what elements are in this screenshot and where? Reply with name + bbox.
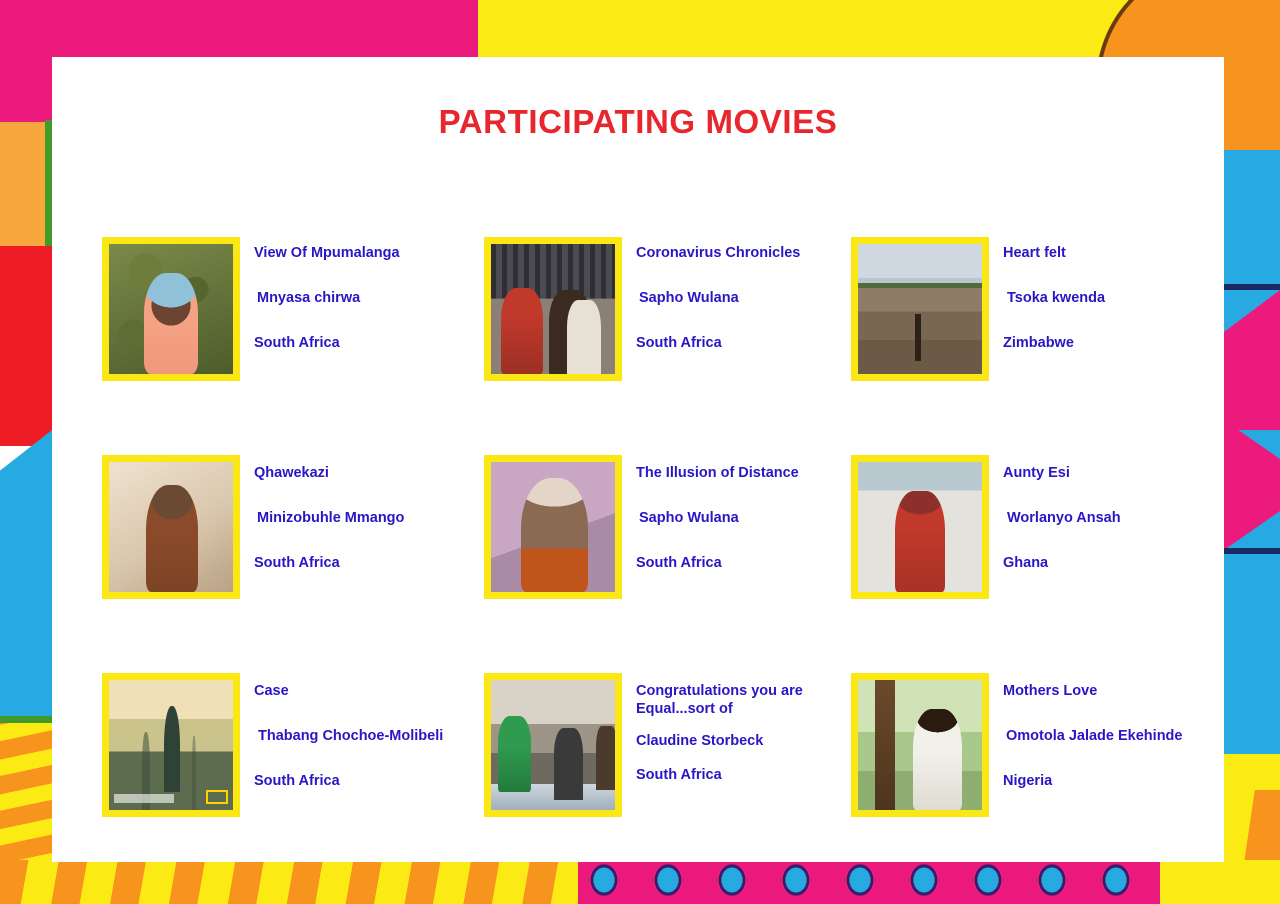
movie-info: Qhawekazi Minizobuhle Mmango South Afric… — [254, 455, 404, 572]
movie-thumbnail[interactable] — [851, 455, 989, 599]
movie-director: Sapho Wulana — [639, 509, 799, 527]
background-bottom-dot-pattern — [578, 860, 1224, 904]
movie-thumbnail[interactable] — [851, 673, 989, 817]
movie-info: Heart felt Tsoka kwenda Zimbabwe — [1003, 237, 1105, 352]
woman-headwrap-foliage-photo — [109, 244, 233, 374]
content-panel: PARTICIPATING MOVIES View Of Mpumalanga … — [52, 57, 1224, 862]
movie-director: Mnyasa chirwa — [257, 289, 400, 307]
desk-surface — [491, 784, 615, 810]
movie-director: Claudine Storbeck — [636, 732, 851, 750]
movie-info: Aunty Esi Worlanyo Ansah Ghana — [1003, 455, 1121, 572]
movie-card[interactable]: Coronavirus Chronicles Sapho Wulana Sout… — [484, 237, 851, 455]
poster-caption-strip — [114, 794, 174, 803]
movie-info: The Illusion of Distance Sapho Wulana So… — [636, 455, 799, 572]
movie-info: View Of Mpumalanga Mnyasa chirwa South A… — [254, 237, 400, 352]
movie-card[interactable]: Congratulations you are Equal...sort of … — [484, 673, 851, 848]
movie-card[interactable]: Heart felt Tsoka kwenda Zimbabwe — [851, 237, 1224, 455]
background-left-orange-block — [0, 122, 48, 246]
movie-director: Tsoka kwenda — [1007, 289, 1105, 307]
movie-info: Mothers Love Omotola Jalade Ekehinde Nig… — [1003, 673, 1182, 790]
background-top-pink-band — [0, 0, 478, 58]
movie-director: Omotola Jalade Ekehinde — [1006, 727, 1182, 745]
background-bottom-wave-pattern — [0, 860, 578, 904]
movie-thumbnail[interactable] — [102, 237, 240, 381]
movie-info: Congratulations you are Equal...sort of … — [636, 673, 851, 785]
movie-country: South Africa — [636, 766, 851, 784]
background-right-navy-line-bottom — [1224, 548, 1280, 554]
background-left-pink-block — [0, 0, 52, 122]
movie-director: Thabang Chochoe-Molibeli — [258, 727, 443, 745]
movie-country: Nigeria — [1003, 772, 1182, 790]
movie-card[interactable]: Mothers Love Omotola Jalade Ekehinde Nig… — [851, 673, 1224, 848]
background-bottom-yellow-block — [1160, 860, 1280, 904]
background-right-navy-line-top — [1224, 284, 1280, 290]
movie-title: Aunty Esi — [1003, 464, 1121, 482]
mother-and-child-tree-photo — [858, 680, 982, 810]
movie-director: Sapho Wulana — [639, 289, 800, 307]
background-left-green-line — [0, 716, 52, 723]
movie-thumbnail[interactable] — [484, 673, 622, 817]
movie-info: Coronavirus Chronicles Sapho Wulana Sout… — [636, 237, 800, 352]
movie-title: Congratulations you are Equal...sort of — [636, 682, 851, 718]
movie-title: Case — [254, 682, 443, 700]
movie-director: Minizobuhle Mmango — [257, 509, 404, 527]
national-geographic-logo-icon — [206, 790, 228, 804]
movie-title: The Illusion of Distance — [636, 464, 799, 482]
movie-card[interactable]: The Illusion of Distance Sapho Wulana So… — [484, 455, 851, 673]
movie-title: Heart felt — [1003, 244, 1105, 262]
movie-country: South Africa — [254, 554, 404, 572]
movie-country: Zimbabwe — [1003, 334, 1105, 352]
movie-country: Ghana — [1003, 554, 1121, 572]
movie-thumbnail[interactable] — [851, 237, 989, 381]
movie-director: Worlanyo Ansah — [1007, 509, 1121, 527]
movie-country: South Africa — [254, 334, 400, 352]
movie-country: South Africa — [636, 334, 800, 352]
movie-thumbnail[interactable] — [484, 237, 622, 381]
movie-title: View Of Mpumalanga — [254, 244, 400, 262]
movie-title: Mothers Love — [1003, 682, 1182, 700]
movie-card[interactable]: Qhawekazi Minizobuhle Mmango South Afric… — [102, 455, 484, 673]
page-title: PARTICIPATING MOVIES — [52, 103, 1224, 141]
movie-card[interactable]: View Of Mpumalanga Mnyasa chirwa South A… — [102, 237, 484, 455]
movie-thumbnail[interactable] — [102, 455, 240, 599]
movie-card[interactable]: Aunty Esi Worlanyo Ansah Ghana — [851, 455, 1224, 673]
background-left-cyan-block — [0, 430, 52, 720]
movie-country: South Africa — [636, 554, 799, 572]
river-landscape-photo — [858, 244, 982, 374]
woman-braids-photo — [109, 462, 233, 592]
movie-grid: View Of Mpumalanga Mnyasa chirwa South A… — [102, 237, 1224, 848]
movie-country: South Africa — [254, 772, 443, 790]
movie-thumbnail[interactable] — [102, 673, 240, 817]
elderly-person-purple-wall-photo — [491, 462, 615, 592]
movie-info: Case Thabang Chochoe-Molibeli South Afri… — [254, 673, 443, 790]
movie-title: Qhawekazi — [254, 464, 404, 482]
person-red-cloth-wall-photo — [858, 462, 982, 592]
background-left-red-block — [0, 246, 52, 446]
movie-card[interactable]: Case Thabang Chochoe-Molibeli South Afri… — [102, 673, 484, 848]
slide-canvas: PARTICIPATING MOVIES View Of Mpumalanga … — [0, 0, 1280, 904]
two-people-indoor-photo — [491, 244, 615, 374]
movie-title: Coronavirus Chronicles — [636, 244, 800, 262]
movie-thumbnail[interactable] — [484, 455, 622, 599]
classroom-workshop-photo — [491, 680, 615, 810]
